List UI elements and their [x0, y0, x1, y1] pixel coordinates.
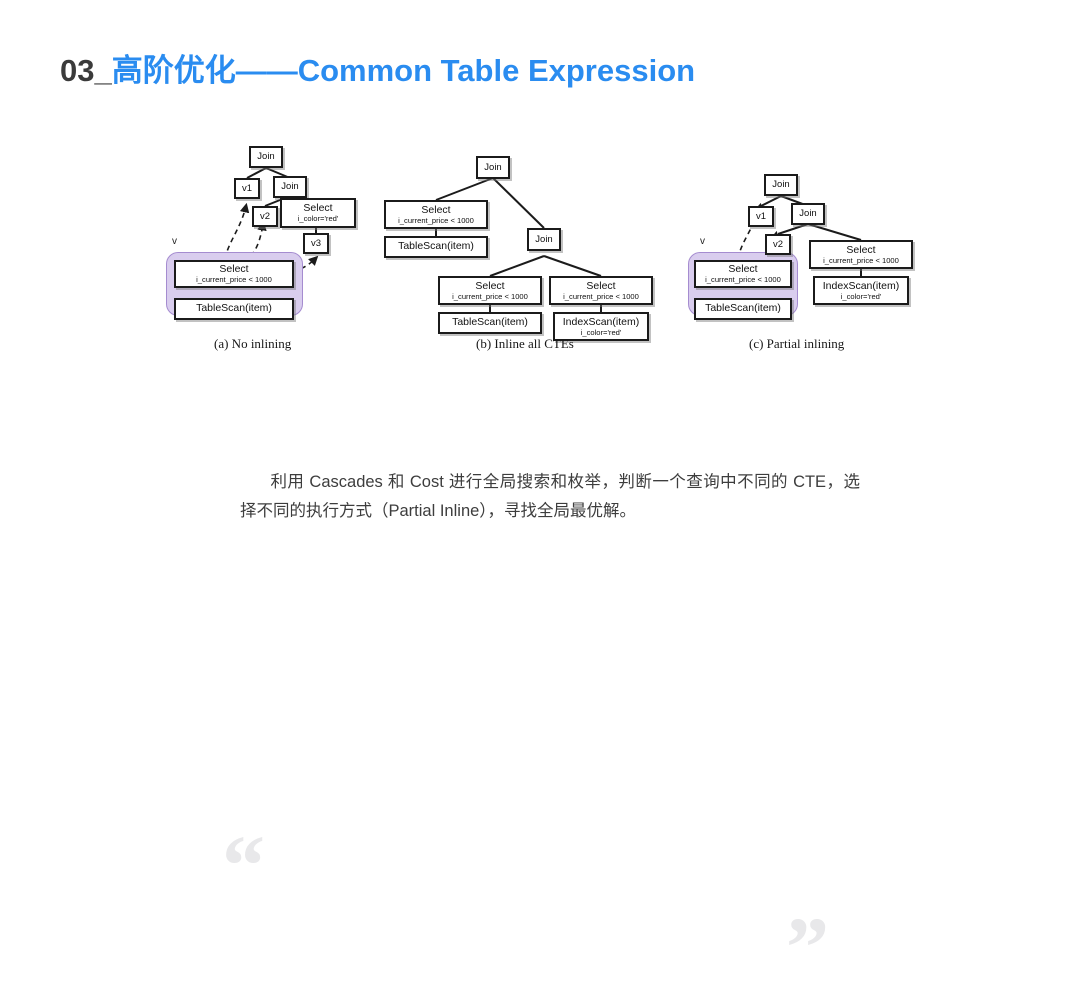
panel-b-node-join-root[interactable]: Join: [476, 156, 510, 179]
panel-a-node-select-color[interactable]: Select i_color='red': [280, 198, 356, 228]
panel-b-node-select-price-mid[interactable]: Select i_current_price < 1000: [438, 276, 542, 305]
panel-c-node-indexscan-right[interactable]: IndexScan(item) i_color='red': [813, 276, 909, 305]
panel-b-node-tablescan-left[interactable]: TableScan(item): [384, 236, 488, 258]
panel-c-node-join-inner[interactable]: Join: [791, 203, 825, 225]
title-text: 高阶优化——Common Table Expression: [112, 53, 695, 88]
panel-a-node-v2[interactable]: v2: [252, 206, 278, 227]
panel-b-caption: (b) Inline all CTEs: [476, 336, 574, 352]
panel-a-node-v3[interactable]: v3: [303, 233, 329, 254]
panel-b-node-join-inner[interactable]: Join: [527, 228, 561, 251]
quote-text: 利用 Cascades 和 Cost 进行全局搜索和枚举，判断一个查询中不同的 …: [240, 468, 860, 526]
panel-a-node-tablescan[interactable]: TableScan(item): [174, 298, 294, 320]
panel-a-node-join-inner[interactable]: Join: [273, 176, 307, 198]
quote-block: “ ” 利用 Cascades 和 Cost 进行全局搜索和枚举，判断一个查询中…: [0, 418, 1080, 578]
quote-text-body: 利用 Cascades 和 Cost 进行全局搜索和枚举，判断一个查询中不同的 …: [240, 473, 860, 520]
title-number: 03_: [60, 53, 112, 88]
panel-c-node-tablescan-cte[interactable]: TableScan(item): [694, 298, 792, 320]
panel-a-node-select-price[interactable]: Select i_current_price < 1000: [174, 260, 294, 288]
panel-c-node-v1[interactable]: v1: [748, 206, 774, 227]
panel-c-node-select-price-right[interactable]: Select i_current_price < 1000: [809, 240, 913, 269]
panel-a-node-v1[interactable]: v1: [234, 178, 260, 199]
panel-c-cte-label: v: [700, 236, 705, 247]
panel-c-caption: (c) Partial inlining: [749, 336, 844, 352]
page-title: 03_高阶优化——Common Table Expression: [60, 45, 695, 90]
panel-a-caption: (a) No inlining: [214, 336, 291, 352]
panel-a-node-join-root[interactable]: Join: [249, 146, 283, 168]
panel-b-node-tablescan-mid[interactable]: TableScan(item): [438, 312, 542, 334]
quote-close-icon: ”: [786, 904, 829, 990]
panel-c-node-join-root[interactable]: Join: [764, 174, 798, 196]
panel-b-node-select-price-left[interactable]: Select i_current_price < 1000: [384, 200, 488, 229]
panel-c-node-v2[interactable]: v2: [765, 234, 791, 255]
panel-b-node-select-price-right[interactable]: Select i_current_price < 1000: [549, 276, 653, 305]
figure-cte-inlining: v Join v1 Join v2 Select i_color='red' v…: [0, 128, 1080, 368]
panel-a-cte-label: v: [172, 236, 177, 247]
quote-open-icon: “: [222, 822, 265, 908]
panel-c-node-select-price-cte[interactable]: Select i_current_price < 1000: [694, 260, 792, 288]
